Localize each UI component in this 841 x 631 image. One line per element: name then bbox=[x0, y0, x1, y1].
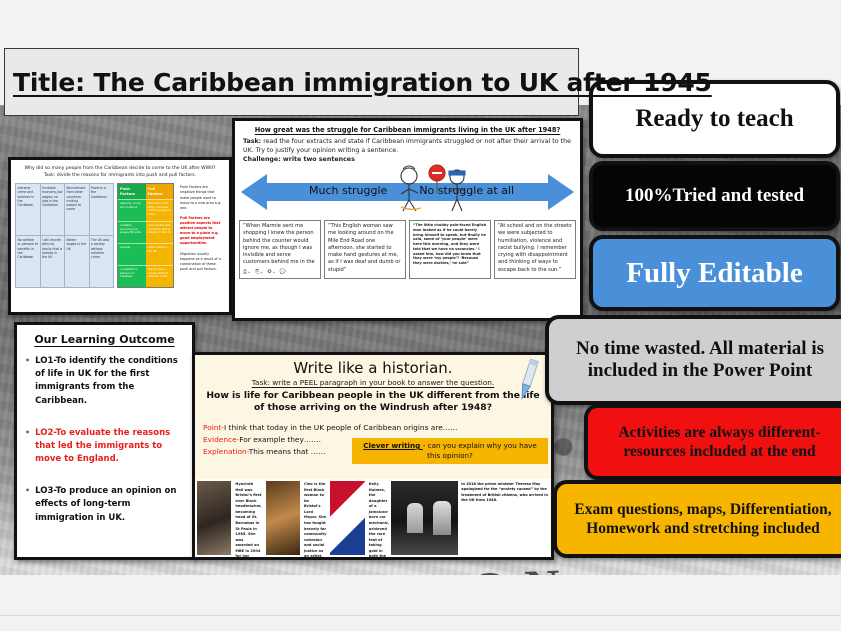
promo-exam-questions: Exam questions, maps, Differentiation, H… bbox=[553, 480, 841, 558]
peel-point: Point-I think that today in the UK peopl… bbox=[203, 422, 551, 434]
reason-cell[interactable]: The UK was a society without extreme cri… bbox=[90, 236, 115, 288]
learning-outcome-item: • LO1-To identify the conditions of life… bbox=[17, 355, 192, 408]
pen-icon bbox=[507, 357, 547, 403]
extract-toolbar[interactable]: ⎙⌄ ⎘⌄ ✪⌄ 💬 bbox=[243, 269, 317, 276]
reason-cell[interactable]: Unstable economy,low wages/ no jobs in t… bbox=[41, 184, 66, 236]
push-pull-notes: Push Factors are negative things that ma… bbox=[177, 183, 225, 288]
bio-text: Cleo is the first Black woman to be Bris… bbox=[302, 479, 329, 557]
extract-text: “When Marmie sent me shopping I knew the… bbox=[243, 223, 317, 266]
learning-outcome-text: LO1-To identify the conditions of life i… bbox=[35, 355, 183, 408]
slide-card-struggle[interactable]: How great was the struggle for Caribbean… bbox=[232, 118, 583, 321]
page-bottom-divider bbox=[0, 615, 841, 616]
struggle-challenge: Challenge: write two sentences bbox=[235, 155, 580, 163]
struggle-scale: Much struggle No struggle at all bbox=[235, 167, 580, 217]
reason-cell[interactable]: Poverty in the Caribbean bbox=[90, 184, 115, 236]
arrow-right-icon bbox=[548, 174, 574, 210]
promo-fully-editable: Fully Editable bbox=[589, 235, 840, 311]
slide-card-push-pull[interactable]: Why did so many people from the Caribbea… bbox=[8, 157, 232, 315]
push-pull-question: Why did so many people from the Caribbea… bbox=[11, 160, 229, 181]
reason-cell[interactable]: Better wages in the UK bbox=[65, 236, 90, 288]
clever-writing-text: - can you explain why you have this opin… bbox=[423, 441, 537, 460]
hyacinth-hall-photo bbox=[197, 481, 231, 555]
page-title: Title: The Caribbean immigration to UK a… bbox=[5, 68, 712, 97]
push-pull-body: extreme crime and violence in the Caribb… bbox=[11, 181, 229, 292]
learning-outcome-item: • LO2-To evaluate the reasons that led t… bbox=[17, 427, 192, 467]
push-pull-question-text: Why did so many people from the Caribbea… bbox=[17, 166, 223, 173]
bullet-icon: • bbox=[25, 485, 30, 525]
reason-cell[interactable]: Recruitment from other countries invitin… bbox=[65, 184, 90, 236]
extract-list: “When Marmie sent me shopping I knew the… bbox=[235, 217, 580, 281]
peel-point-text: I think that today in the UK people of C… bbox=[224, 423, 458, 432]
push-factor-item[interactable]: extreme, crime and violence bbox=[118, 199, 146, 221]
push-factor-item[interactable]: unstable economy,low wages/ NO jobs bbox=[118, 221, 146, 243]
learning-outcome-title: Our Learning Outcome bbox=[17, 325, 192, 355]
learning-outcome-text: LO2-To evaluate the reasons that led the… bbox=[35, 427, 183, 467]
bio-text: Kelly Holmes, the daughter of a Jamaican… bbox=[367, 479, 392, 557]
copy-icon[interactable]: ⎘⌄ bbox=[255, 269, 263, 276]
push-factor-item[interactable]: no welfare or pension or hospitals bbox=[118, 265, 146, 287]
paste-icon[interactable]: ⎙⌄ bbox=[243, 269, 251, 276]
kelly-holmes-photo bbox=[330, 481, 364, 555]
pull-factor-item[interactable]: The UK was a society without extreme cri… bbox=[146, 265, 174, 287]
stick-figures-icon bbox=[387, 163, 483, 215]
struggle-task: Task: read the four extracts and state i… bbox=[235, 137, 580, 155]
comment-icon[interactable]: 💬 bbox=[280, 269, 286, 276]
bio-text: Hyacinth Hall was Bristol's first ever B… bbox=[233, 479, 263, 557]
slide-card-learning-outcome[interactable]: Our Learning Outcome • LO1-To identify t… bbox=[14, 322, 195, 560]
theresa-may-photo bbox=[391, 481, 458, 555]
peel-explanation-key: Explenation- bbox=[203, 447, 249, 456]
pull-factors-header: Pull Factors bbox=[146, 184, 174, 199]
push-factor-note: Push Factors are negative things that ma… bbox=[180, 185, 222, 211]
title-banner: Title: The Caribbean immigration to UK a… bbox=[4, 48, 579, 116]
page-bottom-area bbox=[0, 575, 841, 631]
reason-cell[interactable]: I will reunite with my family that is al… bbox=[41, 236, 66, 288]
push-pull-columns: Push Factors extreme, crime and violence… bbox=[117, 183, 174, 288]
peel-point-key: Point- bbox=[203, 423, 224, 432]
reason-cell[interactable]: No welfare or pension of benefits in the… bbox=[16, 236, 41, 288]
promo-tried-and-tested: 100%Tried and tested bbox=[589, 161, 840, 231]
learning-outcome-item: • LO3-To produce an opinion on effects o… bbox=[17, 485, 192, 525]
historian-task: Task: write a PEEL paragraph in your boo… bbox=[195, 378, 551, 390]
struggle-task-text: read the four extracts and state if Cari… bbox=[243, 138, 571, 154]
bullet-icon: • bbox=[25, 427, 30, 467]
extract-item[interactable]: “At school and on the streets we were su… bbox=[494, 220, 576, 278]
bio-caption: In 2018 the prime minister Theresa May a… bbox=[458, 479, 551, 557]
pull-factor-item[interactable]: I will reunite with my family that is al… bbox=[146, 221, 174, 243]
extract-item[interactable]: “This English woman saw me looking aroun… bbox=[324, 220, 406, 278]
extract-item[interactable]: “The little chubby pale-faced English ma… bbox=[409, 220, 491, 278]
clever-writing-callout: Clever writing - can you explain why you… bbox=[352, 438, 548, 464]
peel-evidence-key: Evidence- bbox=[203, 435, 239, 444]
push-pull-task-text: Task: divide the reasons for immigrants … bbox=[17, 173, 223, 180]
arrow-left-label: Much struggle bbox=[309, 184, 387, 197]
bio-strip: Hyacinth Hall was Bristol's first ever B… bbox=[195, 479, 551, 557]
historian-title: Write like a historian. bbox=[195, 355, 551, 378]
pull-factors-column: Pull Factors Recruitem from other countr… bbox=[146, 184, 174, 287]
pull-factor-item[interactable]: better wages in the UK bbox=[146, 243, 174, 265]
bullet-icon: • bbox=[25, 355, 30, 408]
lord-mayor-photo bbox=[266, 481, 300, 555]
slide-card-historian[interactable]: Write like a historian. Task: write a PE… bbox=[192, 352, 554, 560]
struggle-question: How great was the struggle for Caribbean… bbox=[235, 121, 580, 137]
push-factors-column: Push Factors extreme, crime and violence… bbox=[118, 184, 146, 287]
arrow-left-icon bbox=[241, 174, 267, 210]
reason-grid[interactable]: extreme crime and violence in the Caribb… bbox=[15, 183, 114, 288]
push-factors-header: Push Factors bbox=[118, 184, 146, 199]
historian-question: How is life for Caribbean people in the … bbox=[195, 390, 551, 419]
pull-factor-item[interactable]: Recruitem from other countries inviting … bbox=[146, 199, 174, 221]
migration-note: Migration usually happens as a result of… bbox=[180, 252, 222, 272]
learning-outcome-text: LO3-To produce an opinion on effects of … bbox=[35, 485, 183, 525]
format-painter-icon[interactable]: ✪⌄ bbox=[267, 269, 275, 276]
struggle-task-label: Task: bbox=[243, 138, 261, 145]
peel-explanation-text: This means that …… bbox=[249, 447, 326, 456]
clever-writing-label: Clever writing bbox=[363, 441, 423, 450]
promo-no-time-wasted: No time wasted. All material is included… bbox=[545, 315, 841, 405]
slide-preview: LONDON Title: The Caribbean immigration … bbox=[0, 0, 841, 631]
promo-activities: Activities are always different- resourc… bbox=[584, 404, 841, 480]
pull-factor-note: Pull Factors are positive aspects that a… bbox=[180, 216, 222, 247]
push-factor-item[interactable]: poverty bbox=[118, 243, 146, 265]
peel-evidence-text: For example they……. bbox=[239, 435, 321, 444]
extract-item[interactable]: “When Marmie sent me shopping I knew the… bbox=[239, 220, 321, 278]
reason-cell[interactable]: extreme crime and violence in the Caribb… bbox=[16, 184, 41, 236]
